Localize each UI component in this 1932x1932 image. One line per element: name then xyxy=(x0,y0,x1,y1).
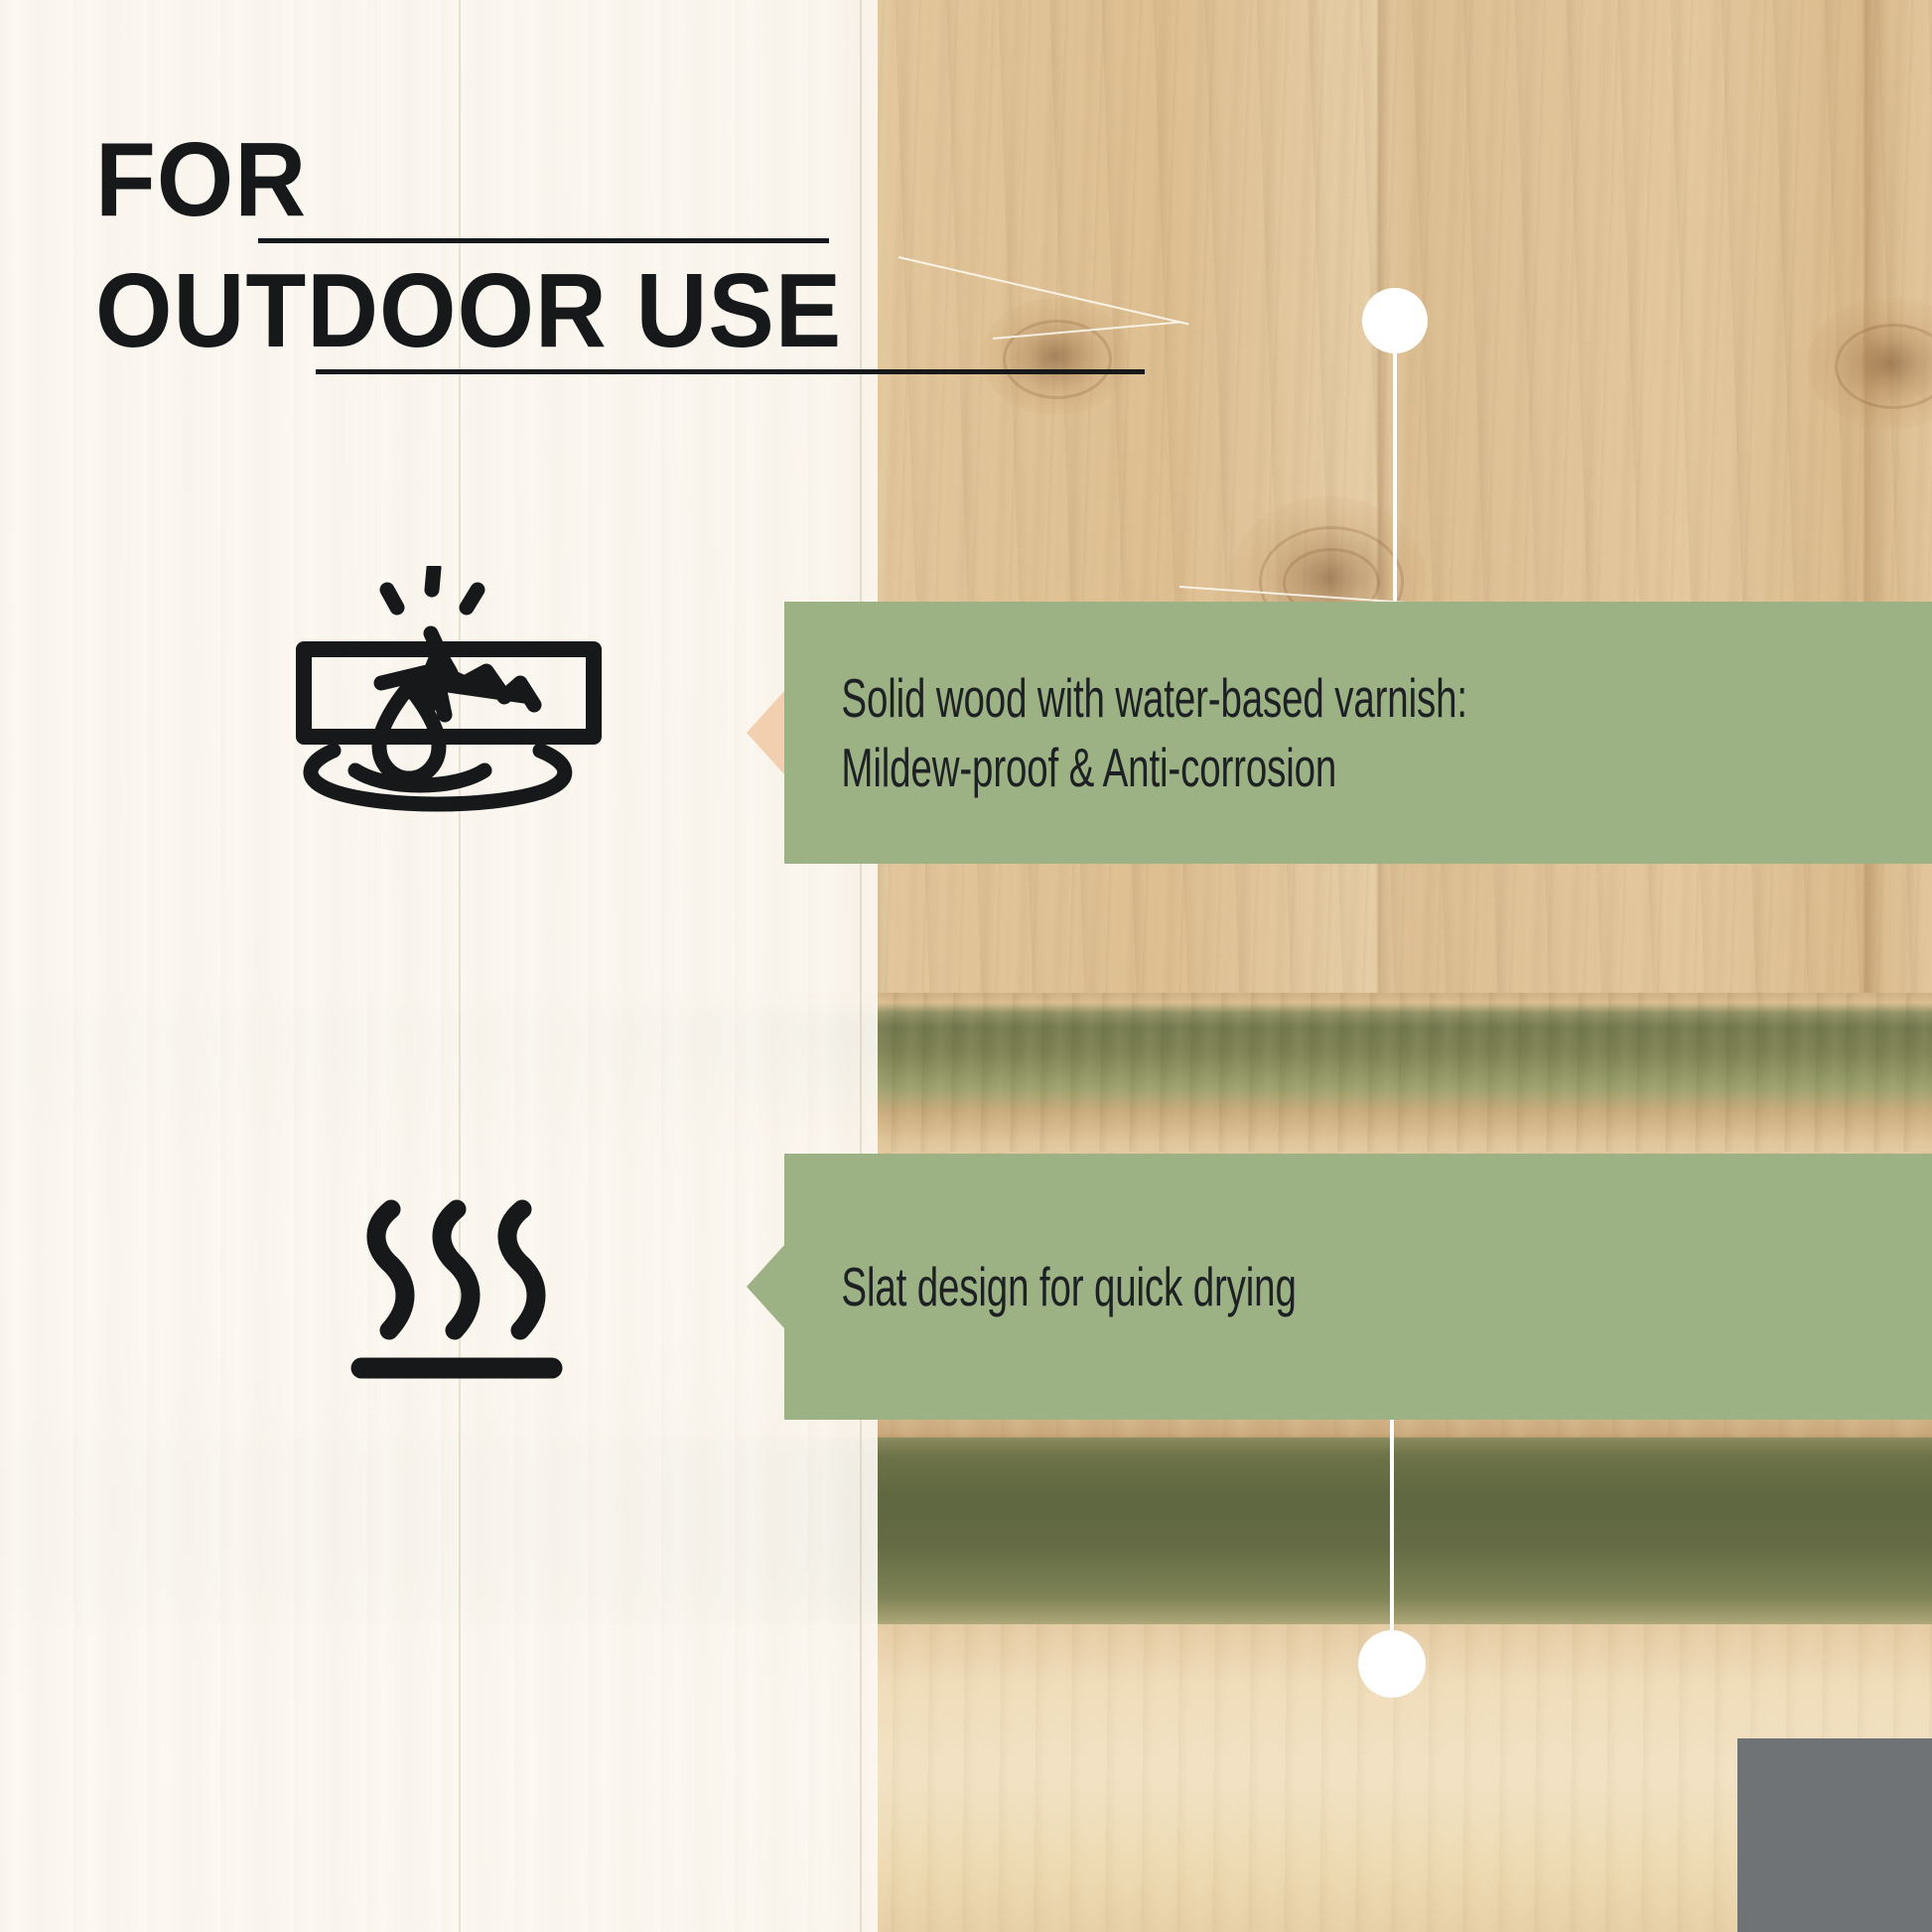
callout-leader-line xyxy=(1390,1418,1394,1666)
corner-color-swatch xyxy=(1737,1738,1932,1932)
title-line-two: OUTDOOR USE xyxy=(95,258,1215,363)
callout-leader-line xyxy=(1393,324,1397,604)
feature-label-bar: Solid wood with water-based varnish: Mil… xyxy=(784,602,1932,864)
callout-dot-top xyxy=(1362,288,1428,353)
feature-label-bar: Slat design for quick drying xyxy=(784,1154,1932,1420)
cracked-board-water-drop-icon xyxy=(290,566,608,814)
product-infographic-poster: FOR OUTDOOR USE xyxy=(0,0,1932,1932)
feature-label-text: Slat design for quick drying xyxy=(784,1252,1587,1321)
title-line-one: FOR xyxy=(95,127,1215,232)
feature-label-text: Solid wood with water-based varnish: Mil… xyxy=(784,663,1587,803)
callout-dot-bottom xyxy=(1358,1630,1426,1698)
title-underline-two xyxy=(316,369,1145,374)
steam-drying-icon xyxy=(347,1191,566,1390)
bar-notch-icon xyxy=(747,691,784,774)
page-title: FOR OUTDOOR USE xyxy=(95,127,1287,363)
bar-notch-icon xyxy=(747,1245,784,1328)
